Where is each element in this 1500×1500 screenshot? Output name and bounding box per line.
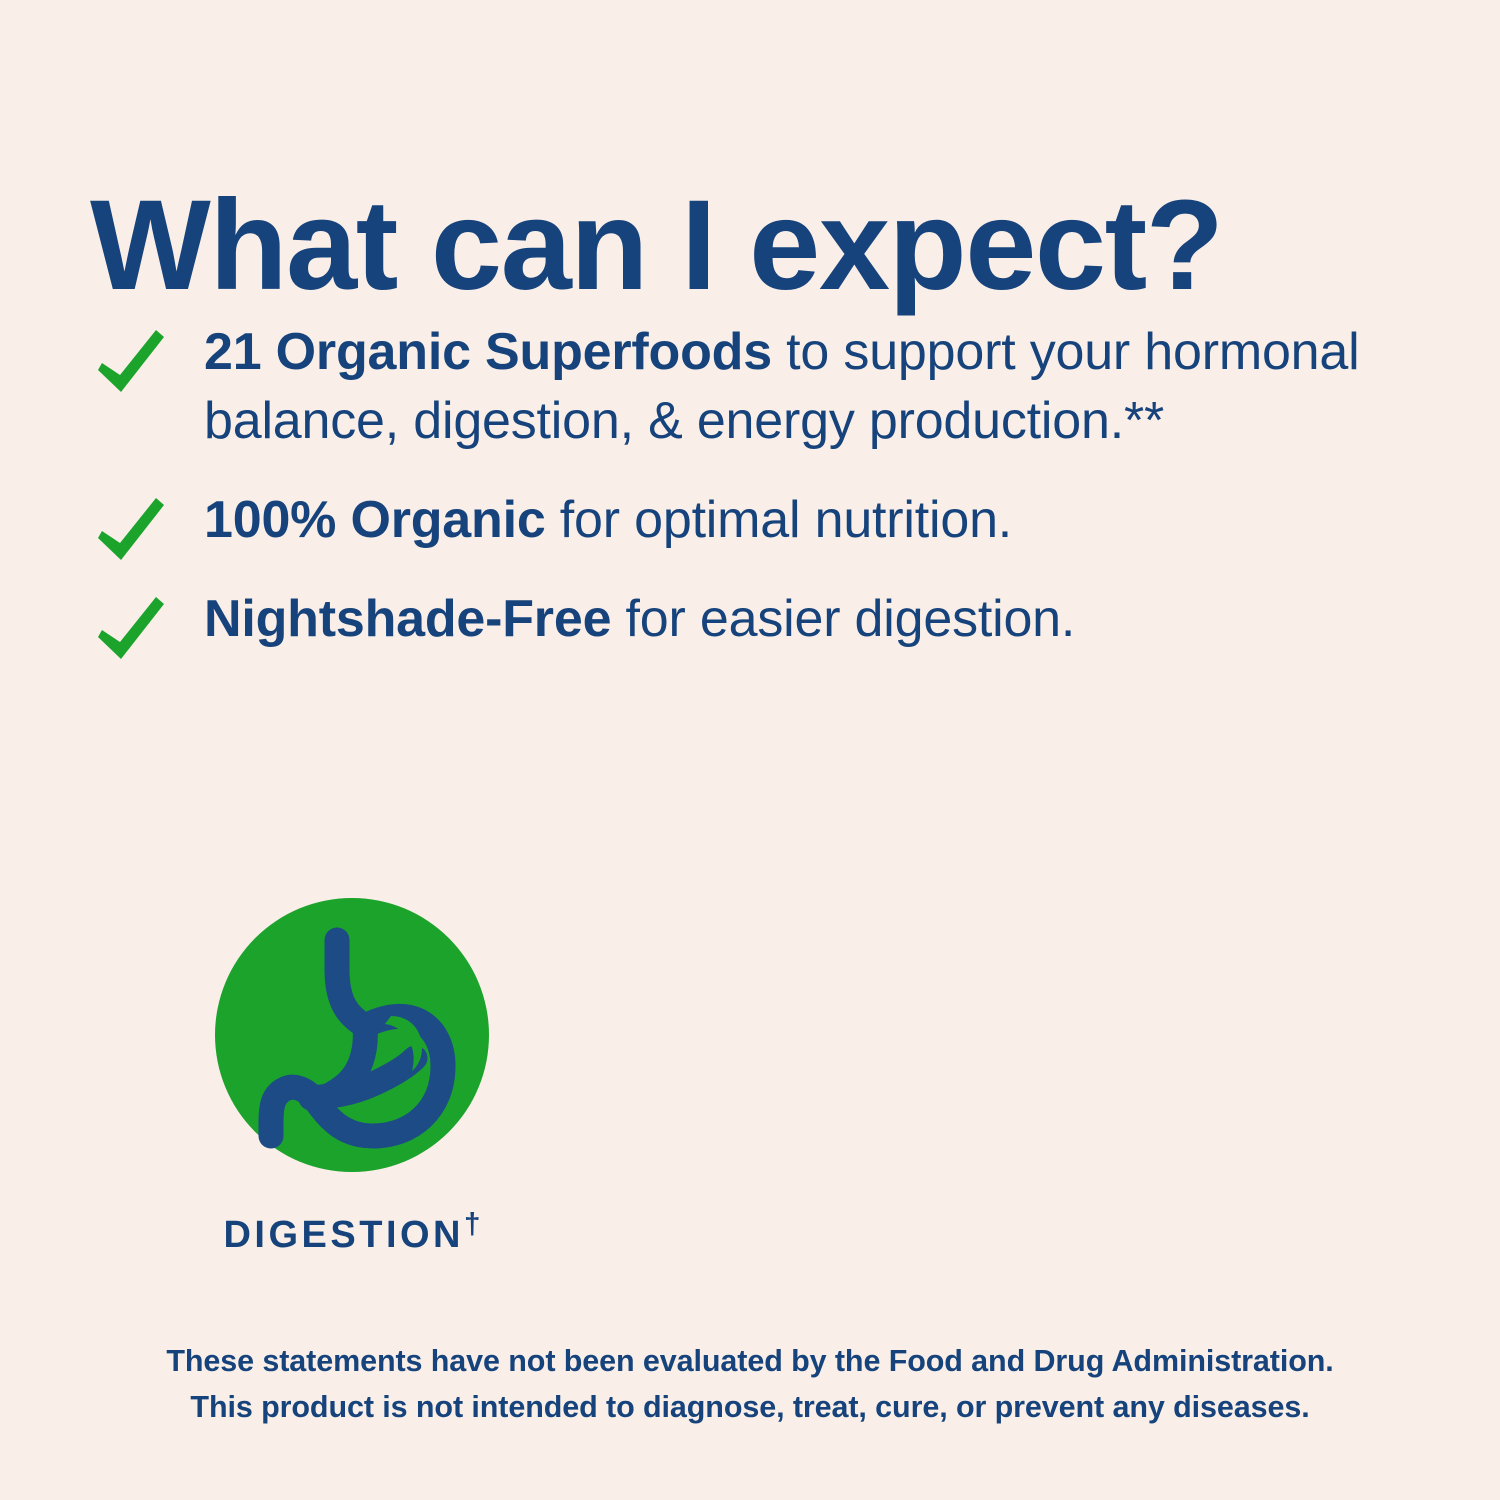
check-icon [94,326,168,400]
list-item-label: 21 Organic Superfoods to support your ho… [204,318,1428,456]
product-benefits-panel: What can I expect? 21 Organic Superfoods… [0,0,1500,1500]
digestion-badge: DIGESTION† [215,898,489,1257]
benefits-list: 21 Organic Superfoods to support your ho… [88,318,1428,655]
badge-label: DIGESTION† [215,1214,489,1257]
page-title: What can I expect? [90,182,1430,310]
list-item-label-rest: for easier digestion. [611,590,1075,648]
list-item: 21 Organic Superfoods to support your ho… [88,318,1428,456]
badge-circle [215,898,489,1172]
badge-label-text: DIGESTION [223,1214,464,1256]
list-item-label-bold: Nightshade-Free [204,590,611,648]
fda-disclaimer: These statements have not been evaluated… [0,1338,1500,1431]
list-item: 100% Organic for optimal nutrition. [88,486,1428,555]
disclaimer-line-2: This product is not intended to diagnose… [0,1384,1500,1430]
list-item-label-rest: for optimal nutrition. [546,491,1013,549]
list-item: Nightshade-Free for easier digestion. [88,585,1428,654]
list-item-label: Nightshade-Free for easier digestion. [204,585,1428,654]
list-item-label-bold: 21 Organic Superfoods [204,323,772,381]
disclaimer-line-1: These statements have not been evaluated… [0,1338,1500,1384]
list-item-label: 100% Organic for optimal nutrition. [204,486,1428,555]
stomach-icon [215,898,489,1172]
check-icon [94,593,168,667]
list-item-label-bold: 100% Organic [204,491,546,549]
check-icon [94,494,168,568]
dagger-marker: † [464,1207,480,1240]
